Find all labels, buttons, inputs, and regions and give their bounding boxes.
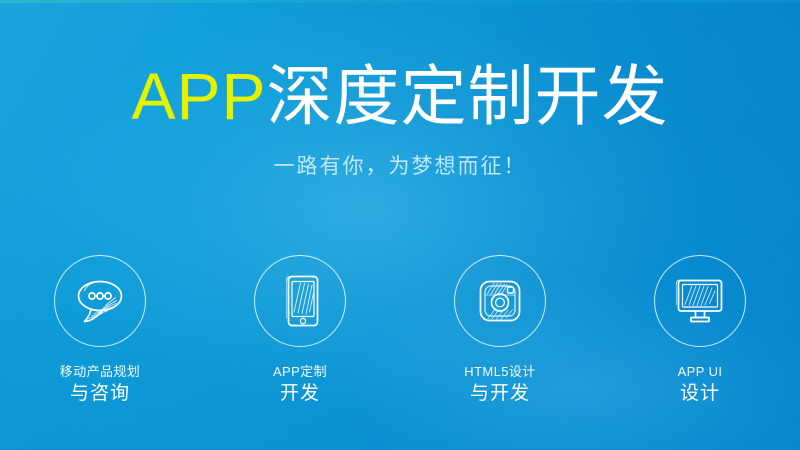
feature-item-app-development[interactable]: APP定制 开发	[200, 255, 400, 407]
feature-icon-circle	[54, 255, 146, 347]
feature-icon-circle	[654, 255, 746, 347]
feature-labels: HTML5设计 与开发	[464, 362, 535, 407]
feature-labels: 移动产品规划 与咨询	[60, 362, 140, 407]
background-top-strip	[0, 0, 800, 3]
feature-labels: APP UI 设计	[678, 362, 723, 407]
feature-item-html5[interactable]: HTML5设计 与开发	[400, 255, 600, 407]
camera-icon	[472, 273, 528, 329]
feature-label-top: APP定制	[273, 362, 327, 381]
feature-label-top: HTML5设计	[464, 362, 535, 381]
feature-label-bottom: 与开发	[464, 381, 535, 407]
speech-bubble-icon	[71, 274, 129, 328]
feature-item-consulting[interactable]: 移动产品规划 与咨询	[0, 255, 200, 407]
promo-banner: APP深度定制开发 一路有你，为梦想而征！	[0, 0, 800, 450]
feature-label-bottom: 开发	[273, 381, 327, 407]
desktop-monitor-icon	[670, 275, 730, 327]
page-title: APP深度定制开发	[0, 52, 800, 140]
feature-label-top: APP UI	[678, 362, 723, 381]
page-subtitle: 一路有你，为梦想而征！	[0, 152, 800, 182]
feature-icon-circle	[254, 255, 346, 347]
page-title-rest: 深度定制开发	[267, 59, 669, 133]
page-title-highlight: APP	[131, 59, 266, 133]
tablet-device-icon	[278, 272, 322, 330]
feature-labels: APP定制 开发	[273, 362, 327, 407]
feature-label-bottom: 设计	[678, 381, 723, 407]
feature-label-bottom: 与咨询	[60, 381, 140, 407]
feature-list: 移动产品规划 与咨询	[0, 255, 800, 407]
feature-icon-circle	[454, 255, 546, 347]
feature-label-top: 移动产品规划	[60, 362, 140, 381]
feature-item-app-ui[interactable]: APP UI 设计	[600, 255, 800, 407]
